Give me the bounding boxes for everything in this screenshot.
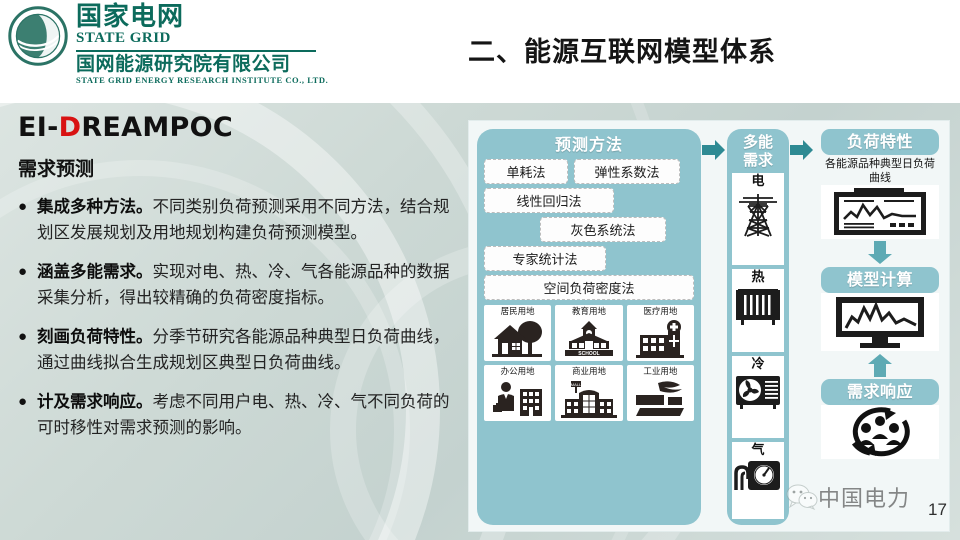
- page-title: 二、能源互联网模型体系: [468, 30, 776, 69]
- slide: 国家电网 STATE GRID 国网能源研究院有限公司 STATE GRID E…: [0, 0, 960, 540]
- method-box-kongjianfuhemidufa: 空间负荷密度法: [484, 275, 694, 300]
- method-box-huisexitongfa: 灰色系统法: [540, 217, 666, 242]
- land-use-cell-residential: 居民用地: [484, 305, 551, 361]
- left-content: EI-DREAMPOC 需求预测 ● 集成多种方法。不同类别负荷预测采用不同方法…: [18, 112, 458, 441]
- bullet-marker-icon: ●: [18, 389, 37, 441]
- office-worker-icon: [490, 379, 546, 419]
- section-subheading: 需求预测: [18, 154, 458, 181]
- land-use-label: 工业用地: [628, 367, 693, 378]
- outcome-column: 负荷特性 各能源品种典型日负荷曲线: [821, 129, 939, 525]
- method-box-xianxinghuiguifa: 线性回归法: [484, 188, 614, 213]
- arrow-right-icon: [790, 139, 814, 161]
- air-conditioner-icon: [734, 373, 782, 411]
- house-tree-icon: [490, 319, 546, 359]
- method-box-zhuanjiatongjifa: 专家统计法: [484, 246, 606, 271]
- bullet-item: ● 涵盖多能需求。实现对电、热、冷、气各能源品种的数据采集分析，得出较精确的负荷…: [18, 259, 458, 311]
- mall-icon: MALL: [559, 379, 619, 419]
- land-use-label: 办公用地: [485, 367, 550, 378]
- energy-item-electricity: 电: [732, 173, 784, 265]
- land-use-cell-medical: 医疗用地: [627, 305, 694, 361]
- state-grid-emblem-icon: [8, 6, 68, 66]
- bullet-lead: 计及需求响应。: [37, 392, 153, 411]
- demand-title-line-1: 多能: [732, 133, 784, 151]
- slide-header: 国家电网 STATE GRID 国网能源研究院有限公司 STATE GRID E…: [0, 0, 960, 103]
- bullet-item: ● 集成多种方法。不同类别负荷预测采用不同方法，结合规划区发展规划及用地规划构建…: [18, 194, 458, 246]
- land-use-label: 教育用地: [556, 307, 621, 318]
- logo-title-cn: 国家电网: [76, 4, 328, 30]
- arrow-right-icon: [702, 139, 726, 161]
- bullet-text: 刻画负荷特性。分季节研究各能源品种典型日负荷曲线，通过曲线拟合生成规划区典型日负…: [37, 324, 458, 376]
- energy-label: 气: [732, 443, 784, 459]
- land-use-label: 医疗用地: [628, 307, 693, 318]
- people-cycle-icon: [832, 407, 928, 457]
- ei-name-rest: REAMPOC: [81, 112, 233, 143]
- ei-name-prefix: EI-: [18, 112, 59, 143]
- bullet-lead: 集成多种方法。: [37, 197, 153, 216]
- flow-arrow-1: [701, 129, 727, 525]
- monitor-chart-icon: [832, 295, 928, 349]
- method-box-danhaofa: 单耗法: [484, 159, 568, 184]
- energy-label: 电: [732, 174, 784, 190]
- forecast-methods-title: 预测方法: [484, 134, 694, 155]
- ei-name-highlight: D: [59, 112, 82, 143]
- bullet-lead: 刻画负荷特性。: [37, 327, 153, 346]
- load-characteristic-title: 负荷特性: [821, 131, 939, 152]
- land-use-cell-office: 办公用地: [484, 365, 551, 421]
- energy-label: 热: [732, 270, 784, 286]
- school-icon: SCHOOL: [559, 319, 619, 359]
- model-calculation-title: 模型计算: [821, 269, 939, 290]
- demand-response-image: [821, 405, 939, 459]
- land-use-label: 商业用地: [556, 367, 621, 378]
- bullet-marker-icon: ●: [18, 259, 37, 311]
- logo-title-en: STATE GRID: [76, 30, 328, 47]
- model-calculation-pill: 模型计算: [821, 267, 939, 293]
- hospital-icon: [632, 319, 688, 359]
- process-diagram: 预测方法 单耗法 弹性系数法 线性回归法 灰色系统法 专家统计法 空间负荷密度法…: [468, 120, 950, 532]
- flow-arrow-2: [789, 129, 815, 525]
- logo-divider: [76, 50, 316, 52]
- energy-item-gas: 气: [732, 442, 784, 520]
- institute-name-cn: 国网能源研究院有限公司: [76, 55, 328, 75]
- radiator-icon: [734, 286, 782, 326]
- multi-energy-demand-title: 多能 需求: [732, 133, 784, 169]
- flow-arrow-down: [821, 241, 939, 265]
- factory-icon: [630, 379, 690, 419]
- load-characteristic-image: [821, 185, 939, 239]
- arrow-down-icon: [867, 241, 893, 265]
- land-use-label: 居民用地: [485, 307, 550, 318]
- demand-response-pill: 需求响应: [821, 379, 939, 405]
- energy-item-heat: 热: [732, 269, 784, 353]
- bullet-text: 计及需求响应。考虑不同用户电、热、冷、气不同负荷的可时移性对需求预测的影响。: [37, 389, 458, 441]
- method-row: 单耗法 弹性系数法: [484, 155, 694, 184]
- bullet-lead: 涵盖多能需求。: [37, 262, 153, 281]
- svg-text:SCHOOL: SCHOOL: [578, 351, 599, 357]
- bullet-marker-icon: ●: [18, 324, 37, 376]
- state-grid-logo: 国家电网 STATE GRID 国网能源研究院有限公司 STATE GRID E…: [8, 4, 328, 85]
- ei-dreampoc-heading: EI-DREAMPOC: [18, 112, 458, 143]
- energy-label: 冷: [732, 357, 784, 373]
- land-use-cell-education: 教育用地 SCHOOL: [555, 305, 622, 361]
- gas-meter-icon: [734, 459, 782, 493]
- method-box-tanxingxishufa: 弹性系数法: [574, 159, 680, 184]
- load-characteristic-pill: 负荷特性: [821, 129, 939, 155]
- land-use-cell-commercial: 商业用地 MALL: [555, 365, 622, 421]
- institute-name-en: STATE GRID ENERGY RESEARCH INSTITUTE CO.…: [76, 75, 328, 85]
- multi-energy-demand-panel: 多能 需求 电: [727, 129, 789, 525]
- bullet-marker-icon: ●: [18, 194, 37, 246]
- demand-title-line-2: 需求: [732, 151, 784, 169]
- page-number: 17: [928, 500, 947, 520]
- bullet-text: 集成多种方法。不同类别负荷预测采用不同方法，结合规划区发展规划及用地规划构建负荷…: [37, 194, 458, 246]
- bullet-item: ● 刻画负荷特性。分季节研究各能源品种典型日负荷曲线，通过曲线拟合生成规划区典型…: [18, 324, 458, 376]
- demand-response-title: 需求响应: [821, 381, 939, 402]
- bullet-item: ● 计及需求响应。考虑不同用户电、热、冷、气不同负荷的可时移性对需求预测的影响。: [18, 389, 458, 441]
- arrow-up-icon: [867, 353, 893, 377]
- svg-text:MALL: MALL: [571, 382, 582, 387]
- bullet-text: 涵盖多能需求。实现对电、热、冷、气各能源品种的数据采集分析，得出较精确的负荷密度…: [37, 259, 458, 311]
- model-calculation-image: [821, 293, 939, 351]
- energy-item-cooling: 冷: [732, 356, 784, 438]
- load-characteristic-caption: 各能源品种典型日负荷曲线: [821, 157, 939, 185]
- curve-chart-board-icon: [832, 187, 928, 237]
- land-use-cell-industrial: 工业用地: [627, 365, 694, 421]
- flow-arrow-up: [821, 353, 939, 377]
- transmission-tower-icon: [735, 190, 781, 238]
- forecast-methods-panel: 预测方法 单耗法 弹性系数法 线性回归法 灰色系统法 专家统计法 空间负荷密度法…: [477, 129, 701, 525]
- land-use-grid: 居民用地 教育用地: [484, 305, 694, 421]
